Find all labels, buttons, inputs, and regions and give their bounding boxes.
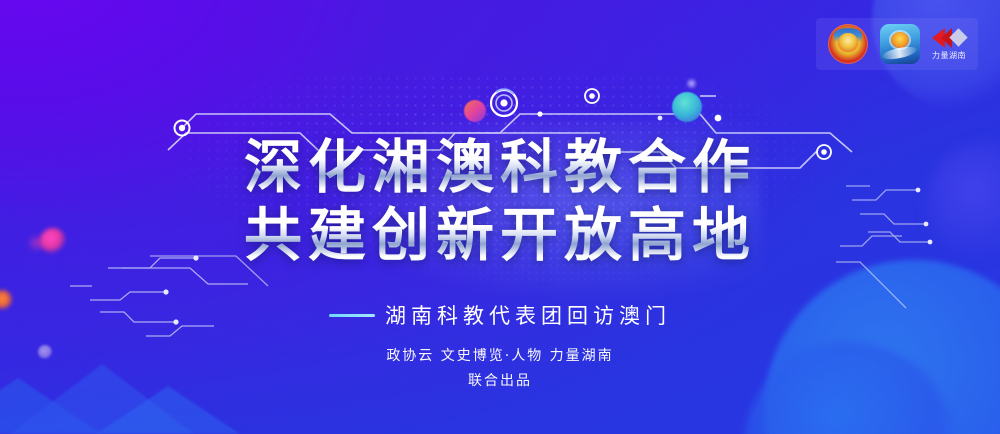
headline-line-2: 共建创新开放高地 bbox=[0, 201, 1000, 269]
decor-dot-violet bbox=[686, 78, 697, 89]
credits-line-1: 政协云 文史博览·人物 力量湖南 bbox=[0, 344, 1000, 369]
subtitle-dash-icon bbox=[329, 314, 375, 317]
cppcc-emblem-icon bbox=[828, 24, 868, 64]
wave-icon bbox=[882, 44, 919, 61]
sun-icon bbox=[891, 32, 909, 48]
decor-dot-gradient-orange-pink bbox=[464, 100, 486, 122]
liliang-hunan-label: 力量湖南 bbox=[932, 50, 966, 61]
subtitle-text: 湖南科教代表团回访澳门 bbox=[385, 304, 671, 328]
arrow-diamond-icon bbox=[932, 27, 966, 49]
headline-line-1: 深化湘澳科教合作 bbox=[0, 133, 1000, 201]
decor-dot-teal bbox=[672, 92, 702, 122]
headline-block: 深化湘澳科教合作 共建创新开放高地 bbox=[0, 133, 1000, 269]
zhengxieyun-app-icon bbox=[880, 24, 920, 64]
credits-line-2: 联合出品 bbox=[0, 369, 1000, 394]
promo-banner: 力量湖南 深化湘澳科教合作 共建创新开放高地 湖南科教代表团回访澳门 政协云 文… bbox=[0, 0, 1000, 434]
logo-bar: 力量湖南 bbox=[816, 18, 978, 70]
credits-block: 政协云 文史博览·人物 力量湖南 联合出品 bbox=[0, 344, 1000, 394]
liliang-hunan-logo: 力量湖南 bbox=[932, 27, 966, 61]
subtitle: 湖南科教代表团回访澳门 bbox=[0, 300, 1000, 330]
